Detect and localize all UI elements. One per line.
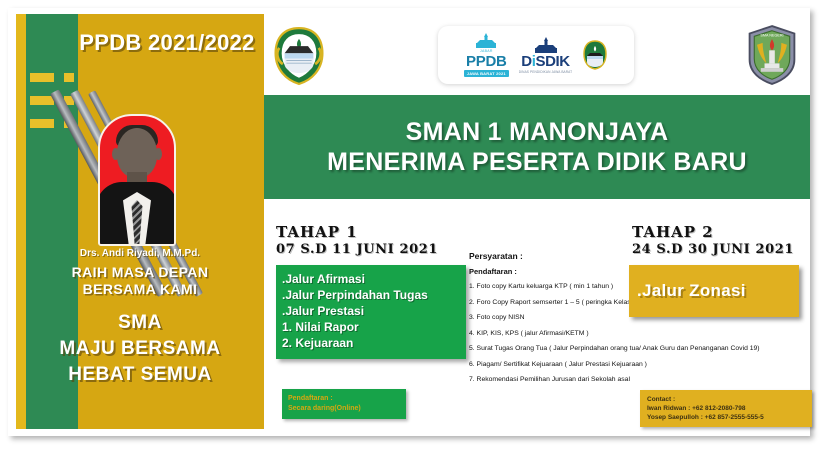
- ppdb-disdik-logo-pill: JABAR PPDB JAWA BARAT 2021 DiSDIK DINAS …: [438, 26, 634, 84]
- disdik-sub-label: DINAS PENDIDIKAN JAWA BARAT: [519, 70, 572, 74]
- requirement-item: 4. KIP, KIS, KPS ( jalur Afirmasi/KETM ): [469, 329, 669, 338]
- tahap1-header: TAHAP 1 07 S.D 11 JUNI 2021: [276, 223, 438, 257]
- ppdb-logo: JABAR PPDB JAWA BARAT 2021: [464, 33, 509, 77]
- requirement-item: 7. Rekomendasi Pemilihan Jurusan dari Se…: [469, 375, 669, 384]
- decor-dash-3: [30, 119, 54, 128]
- tahap2-header: TAHAP 2 24 S.D 30 JUNI 2021: [632, 223, 794, 257]
- jabar-province-emblem-icon: [272, 26, 326, 86]
- right-content: JABAR PPDB JAWA BARAT 2021 DiSDIK DINAS …: [264, 14, 810, 429]
- left-panel: PPDB 2021/2022 Drs. Andi Riyadi, M.M.Pd.…: [16, 14, 264, 429]
- tahap1-jalur-box: .Jalur Afirmasi .Jalur Perpindahan Tugas…: [276, 265, 466, 359]
- tahap1-label: TAHAP 1: [276, 223, 438, 241]
- photo-ear-right: [155, 148, 162, 160]
- jalur-item: .Jalur Prestasi: [282, 303, 460, 319]
- contact-person-2: Yosep Saepulloh : +62 857-2555-555-5: [647, 413, 805, 422]
- pendaftaran-line-2: Secara daring(Online): [288, 404, 400, 414]
- contact-person-1: Iwan Ridwan : +62 812-2080-798: [647, 404, 805, 413]
- decor-dash-1: [30, 73, 54, 82]
- main-title-line-2: MENERIMA PESERTA DIDIK BARU: [327, 147, 747, 177]
- tagline-line-2: MAJU BERSAMA: [32, 336, 248, 362]
- contact-box: Contact : Iwan Ridwan : +62 812-2080-798…: [640, 390, 812, 427]
- decor-square-1: [64, 73, 74, 82]
- contact-heading: Contact :: [647, 395, 805, 404]
- school-emblem-caption: SMA NEGERI: [760, 33, 783, 37]
- slogan-block: RAIH MASA DEPAN BERSAMA KAMI: [32, 264, 248, 298]
- jalur-item: .Jalur Perpindahan Tugas: [282, 287, 460, 303]
- pendaftaran-box: Pendaftaran : Secara daring(Online): [282, 389, 406, 419]
- principal-photo: [98, 114, 176, 246]
- tahap1-date: 07 S.D 11 JUNI 2021: [276, 242, 438, 257]
- gedung-sate-disdik-icon: [533, 37, 559, 54]
- school-emblem-icon: SMA NEGERI: [744, 24, 800, 86]
- tagline-line-1: SMA: [32, 310, 248, 336]
- photo-head: [117, 128, 157, 178]
- tagline-line-3: HEBAT SEMUA: [32, 362, 248, 388]
- jabar-mini-emblem-icon: [582, 40, 608, 70]
- principal-name: Drs. Andi Riyadi, M.M.Pd.: [32, 248, 248, 259]
- ppdb-poster: PPDB 2021/2022 Drs. Andi Riyadi, M.M.Pd.…: [0, 0, 840, 450]
- jalur-item: 2. Kejuaraan: [282, 335, 460, 351]
- disdik-label: DiSDIK: [521, 54, 569, 69]
- photo-ear-left: [112, 148, 119, 160]
- disdik-d: D: [521, 53, 531, 70]
- requirement-item: 6. Piagam/ Sertifikat Kejuaraan ( Jalur …: [469, 360, 669, 369]
- jalur-item: 1. Nilai Rapor: [282, 319, 460, 335]
- decor-dash-2: [30, 96, 54, 105]
- ppdb-year-title: PPDB 2021/2022: [74, 30, 260, 56]
- left-yellow-strip: [16, 14, 26, 429]
- ppdb-label: PPDB: [466, 54, 506, 69]
- requirement-item: 5. Surat Tugas Orang Tua ( Jalur Perpind…: [469, 344, 669, 353]
- pendaftaran-line-1: Pendaftaran :: [288, 394, 400, 404]
- slogan-line-1: RAIH MASA DEPAN: [32, 264, 248, 281]
- logo-row: JABAR PPDB JAWA BARAT 2021 DiSDIK DINAS …: [264, 14, 810, 95]
- jalur-zonasi-label: .Jalur Zonasi: [629, 281, 746, 301]
- main-title-line-1: SMAN 1 MANONJAYA: [406, 117, 669, 147]
- tagline-block: SMA MAJU BERSAMA HEBAT SEMUA: [32, 310, 248, 388]
- poster-body: TAHAP 1 07 S.D 11 JUNI 2021 .Jalur Afirm…: [264, 199, 810, 429]
- ppdb-sub-label: JAWA BARAT 2021: [464, 70, 509, 77]
- tahap2-date: 24 S.D 30 JUNI 2021: [632, 242, 794, 257]
- tahap2-jalur-box: .Jalur Zonasi: [629, 265, 799, 317]
- disdik-rest: SDIK: [535, 53, 569, 70]
- gedung-sate-icon: [473, 33, 499, 49]
- tahap2-label: TAHAP 2: [632, 223, 794, 241]
- main-title-band: SMAN 1 MANONJAYA MENERIMA PESERTA DIDIK …: [264, 95, 810, 199]
- disdik-logo: DiSDIK DINAS PENDIDIKAN JAWA BARAT: [519, 37, 572, 74]
- jalur-item: .Jalur Afirmasi: [282, 271, 460, 287]
- slogan-line-2: BERSAMA KAMI: [32, 281, 248, 298]
